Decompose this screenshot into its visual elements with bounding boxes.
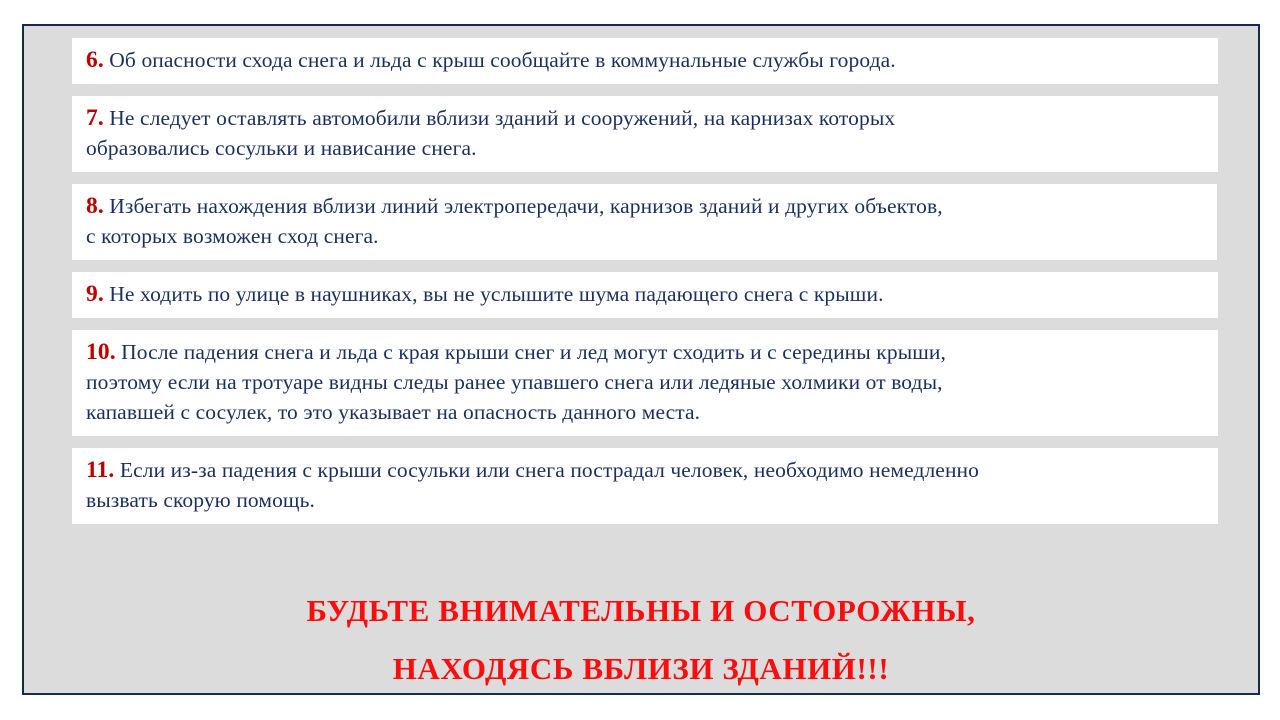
rule-paragraph: 11. Если из-за падения с крыши сосульки … bbox=[86, 455, 1204, 515]
list-item: 7. Не следует оставлять автомобили вблиз… bbox=[72, 96, 1218, 172]
list-item: 10. После падения снега и льда с края кр… bbox=[72, 330, 1218, 436]
list-item: 9. Не ходить по улице в наушниках, вы не… bbox=[72, 272, 1218, 318]
rule-text: Не следует оставлять автомобили вблизи з… bbox=[86, 106, 895, 160]
slide-frame: 6. Об опасности схода снега и льда с кры… bbox=[22, 24, 1260, 695]
rule-text: Об опасности схода снега и льда с крыш с… bbox=[104, 48, 896, 72]
list-item: 8. Избегать нахождения вблизи линий элек… bbox=[72, 184, 1217, 260]
rule-paragraph: 9. Не ходить по улице в наушниках, вы не… bbox=[86, 279, 1204, 309]
rule-number: 11. bbox=[86, 457, 114, 483]
rule-number: 9. bbox=[86, 281, 104, 307]
rule-number: 8. bbox=[86, 193, 104, 219]
rule-text: Не ходить по улице в наушниках, вы не ус… bbox=[104, 282, 884, 306]
warning-footer: БУДЬТЕ ВНИМАТЕЛЬНЫ И ОСТОРОЖНЫ, НАХОДЯСЬ… bbox=[24, 582, 1258, 698]
rule-text: После падения снега и льда с края крыши … bbox=[86, 340, 946, 424]
rule-text: Избегать нахождения вблизи линий электро… bbox=[86, 194, 943, 248]
safety-rules-list: 6. Об опасности схода снега и льда с кры… bbox=[72, 38, 1218, 536]
rule-number: 7. bbox=[86, 105, 104, 131]
rule-text: Если из-за падения с крыши сосульки или … bbox=[86, 458, 979, 512]
rule-number: 10. bbox=[86, 339, 116, 365]
rule-paragraph: 10. После падения снега и льда с края кр… bbox=[86, 337, 1204, 427]
warning-line-1: БУДЬТЕ ВНИМАТЕЛЬНЫ И ОСТОРОЖНЫ, bbox=[24, 582, 1258, 640]
rule-paragraph: 8. Избегать нахождения вблизи линий элек… bbox=[86, 191, 1203, 251]
rule-paragraph: 7. Не следует оставлять автомобили вблиз… bbox=[86, 103, 1204, 163]
list-item: 6. Об опасности схода снега и льда с кры… bbox=[72, 38, 1218, 84]
list-item: 11. Если из-за падения с крыши сосульки … bbox=[72, 448, 1218, 524]
warning-line-2: НАХОДЯСЬ ВБЛИЗИ ЗДАНИЙ!!! bbox=[24, 640, 1258, 698]
rule-paragraph: 6. Об опасности схода снега и льда с кры… bbox=[86, 45, 1204, 75]
rule-number: 6. bbox=[86, 47, 104, 73]
